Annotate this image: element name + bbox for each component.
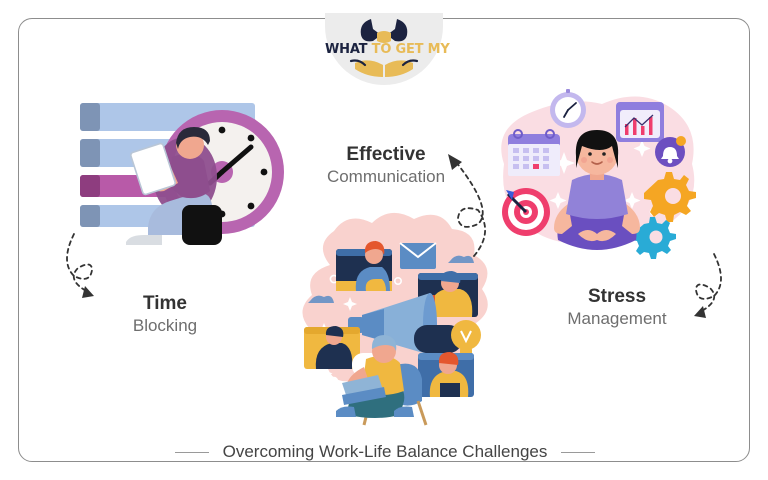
envelope-icon	[400, 243, 436, 269]
stress-management-illustration	[492, 84, 702, 269]
video-window-left	[304, 326, 360, 369]
infographic-canvas: WHAT TO GET MY Effective Communication T…	[0, 0, 768, 480]
logo-text-part2: TO GET MY	[367, 42, 449, 57]
logo-text-part1: WHAT	[325, 42, 367, 57]
logo-ribbon-icon	[351, 60, 417, 77]
logo-wordmark: WHAT TO GET MY	[325, 43, 443, 56]
label-time-light: Blocking	[110, 315, 220, 337]
label-stress-light: Management	[552, 308, 682, 330]
label-time-blocking: Time Blocking	[110, 292, 220, 337]
label-stress-bold: Stress	[552, 285, 682, 308]
label-effective-light: Communication	[316, 166, 456, 188]
video-window-bottom-right	[418, 352, 474, 397]
logo-bow-icon	[361, 19, 408, 43]
label-effective-bold: Effective	[316, 143, 456, 166]
caption-text: Overcoming Work-Life Balance Challenges	[223, 442, 548, 462]
chart-window-icon	[616, 102, 664, 142]
label-stress-management: Stress Management	[552, 285, 682, 330]
bottom-caption: Overcoming Work-Life Balance Challenges	[150, 438, 620, 466]
caption-rule-right	[561, 452, 595, 453]
label-time-bold: Time	[110, 292, 220, 315]
caption-rule-left	[175, 452, 209, 453]
label-effective-communication: Effective Communication	[316, 143, 456, 188]
what-to-get-my-logo[interactable]: WHAT TO GET MY	[325, 13, 443, 85]
clock-icon	[550, 89, 586, 128]
